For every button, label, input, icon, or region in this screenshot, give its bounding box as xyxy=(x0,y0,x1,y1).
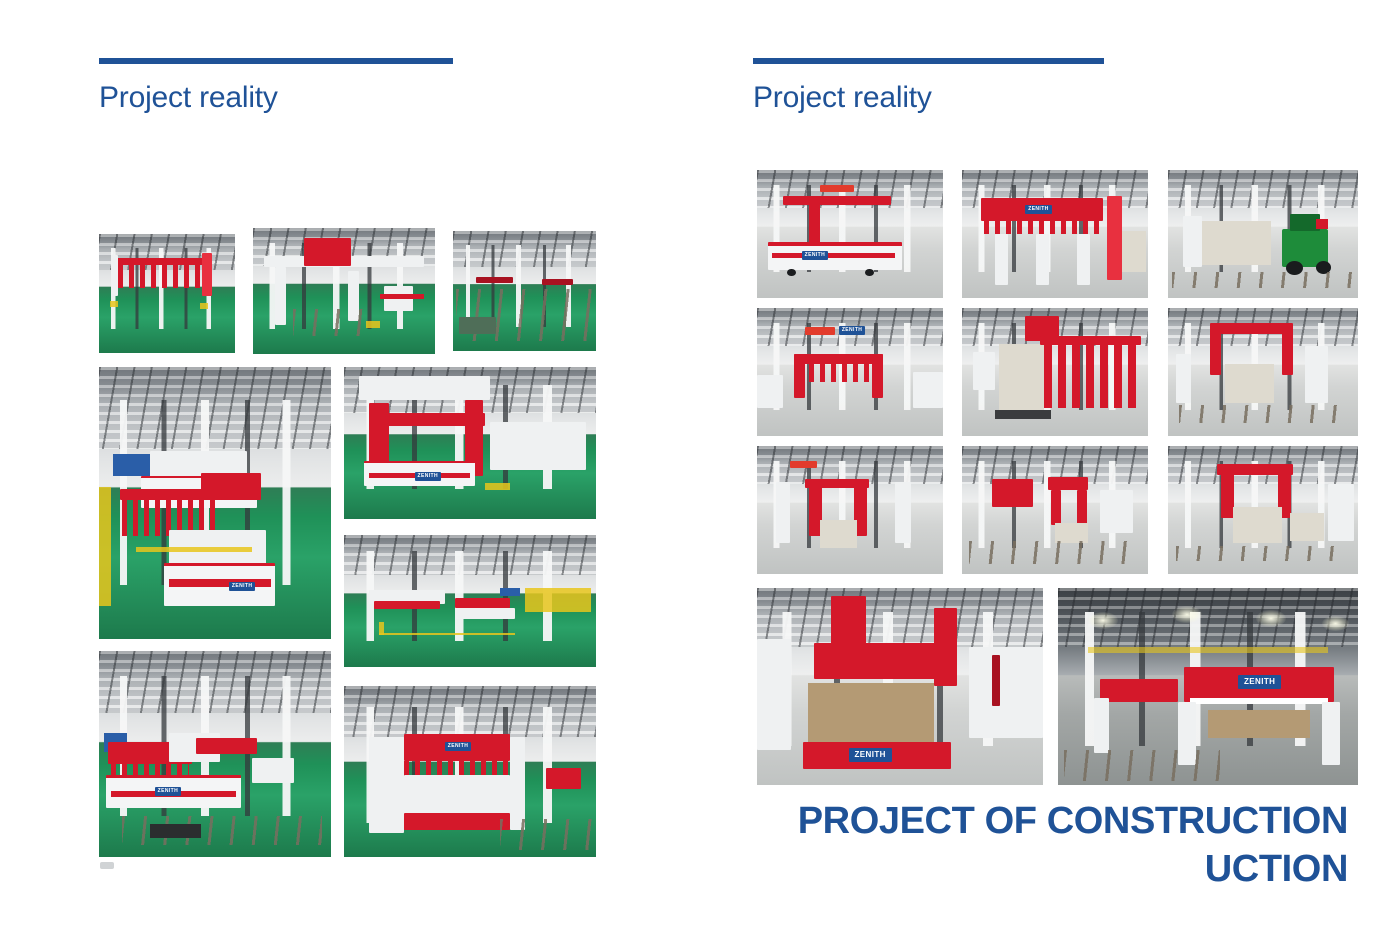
photo-right-9 xyxy=(1168,446,1358,574)
photo-left-7: ZENITH xyxy=(99,651,331,857)
panel-right-rule xyxy=(753,58,1104,64)
slide-page: Project reality xyxy=(0,0,1400,949)
panel-left-title: Project reality xyxy=(99,81,599,116)
bottom-title-line2: UCTION xyxy=(728,846,1348,894)
photo-right-4: ZENITH xyxy=(757,308,943,436)
photo-right-11: ZENITH xyxy=(1058,588,1358,785)
brand-badge: ZENITH xyxy=(849,748,892,762)
brand-badge: ZENITH xyxy=(1025,205,1051,214)
photo-right-10: ZENITH xyxy=(757,588,1043,785)
brand-badge: ZENITH xyxy=(1238,675,1281,689)
photo-left-2 xyxy=(253,228,435,354)
photo-right-5 xyxy=(962,308,1148,436)
panel-left-rule xyxy=(99,58,453,64)
photo-right-7 xyxy=(757,446,943,574)
panel-left: Project reality xyxy=(99,58,599,116)
photo-left-4: ZENITH xyxy=(99,367,331,639)
photo-right-8 xyxy=(962,446,1148,574)
photo-right-2: ZENITH xyxy=(962,170,1148,298)
photo-left-3 xyxy=(453,231,596,351)
page-smudge xyxy=(100,862,114,869)
photo-left-5: ZENITH xyxy=(344,367,596,519)
bottom-title: PROJECT OF CONSTRUCTION UCTION xyxy=(728,798,1348,894)
panel-right: Project reality xyxy=(753,58,1358,116)
brand-badge: ZENITH xyxy=(839,326,865,335)
bottom-title-line1: PROJECT OF CONSTRUCTION xyxy=(728,798,1348,846)
brand-badge: ZENITH xyxy=(155,787,181,796)
photo-left-1 xyxy=(99,234,235,353)
brand-badge: ZENITH xyxy=(415,472,441,481)
brand-badge: ZENITH xyxy=(229,582,255,591)
photo-right-3 xyxy=(1168,170,1358,298)
photo-right-1: ZENITH xyxy=(757,170,943,298)
photo-right-6 xyxy=(1168,308,1358,436)
panel-right-title: Project reality xyxy=(753,81,1358,116)
brand-badge: ZENITH xyxy=(802,251,828,260)
brand-badge: ZENITH xyxy=(445,742,471,751)
photo-left-6 xyxy=(344,535,596,667)
photo-left-8: ZENITH xyxy=(344,686,596,857)
